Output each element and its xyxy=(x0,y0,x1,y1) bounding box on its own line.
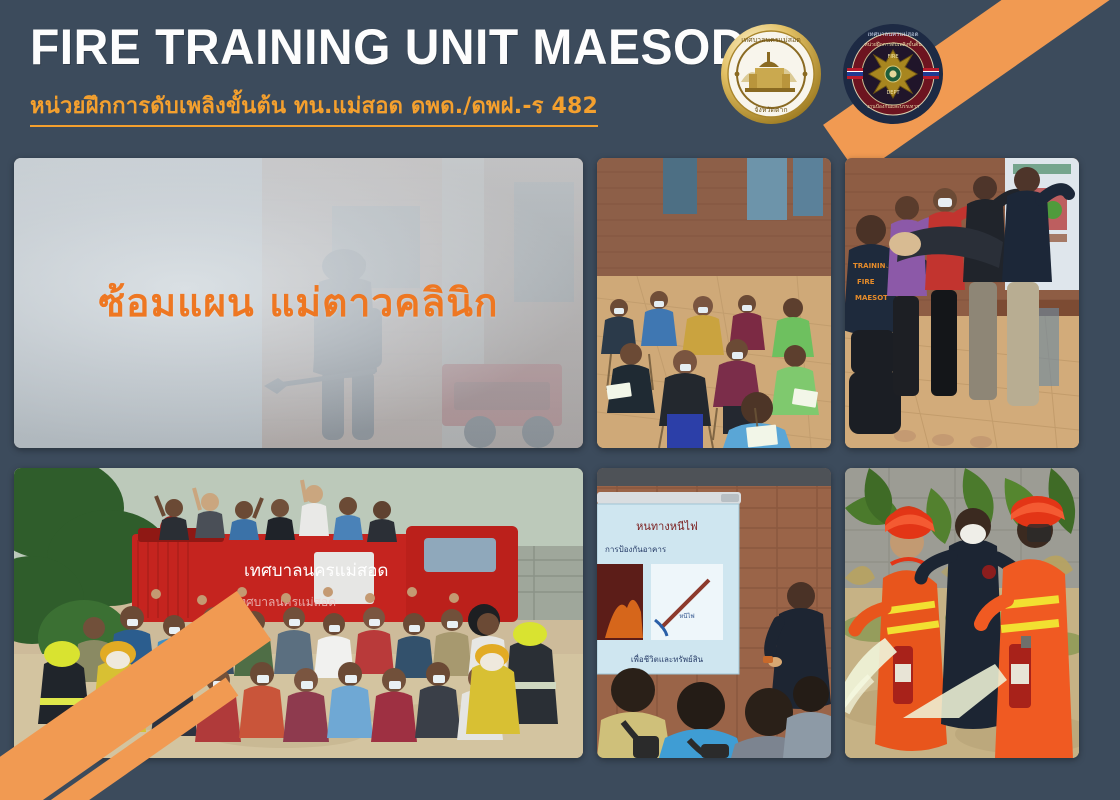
photo-caption: ซ้อมแผน แม่ตาวคลินิก xyxy=(14,272,583,334)
badge-center-bottom-text: DEPT xyxy=(886,90,900,96)
casualty-lift-practice-photo[interactable]: TRAINING FIRE MAESOT xyxy=(845,158,1079,448)
seal-bottom-text: จังหวัดตาก xyxy=(754,106,787,114)
badge-top-text: เทศบาลนครแม่สอด xyxy=(868,31,919,38)
fire-truck-text: เทศบาลนครแม่สอด xyxy=(244,561,388,581)
page-subtitle: หน่วยฝึกการดับเพลิงขั้นต้น ทน.แม่สอด ดพด… xyxy=(30,88,598,127)
photo-grid: ซ้อมแผน แม่ตาวคลินิก xyxy=(14,158,1106,758)
maesot-fire-department-badge: FIRE DEPT เทศบาลนครแม่สอด หน่วยฝึกการดับ… xyxy=(841,22,945,126)
fire-drill-smoke-photo[interactable]: ซ้อมแผน แม่ตาวคลินิก xyxy=(14,158,583,448)
poster-header: FIRE TRAINING UNIT MAESOD หน่วยฝึกการดับ… xyxy=(0,0,1120,150)
slide-line2: เพื่อชีวิตและทรัพย์สิน xyxy=(631,653,704,664)
logo-group: เทศบาลนครแม่สอด จังหวัดตาก xyxy=(719,22,945,126)
slide-title: หนทางหนีไฟ xyxy=(636,520,698,533)
extinguisher-practice-photo[interactable] xyxy=(845,468,1079,758)
badge-inner-bottom-text: งานป้องกันและบรรเทาฯ xyxy=(867,103,919,110)
projector-lecture-photo[interactable]: หนทางหนีไฟ การป้องกันอาคาร หนีไฟ เพื่อชี… xyxy=(597,468,831,758)
shirt-text-line3: MAESOT xyxy=(855,294,888,302)
poster-canvas: FIRE TRAINING UNIT MAESOD หน่วยฝึกการดับ… xyxy=(0,0,1120,800)
slide-line1: การป้องกันอาคาร xyxy=(605,545,667,554)
classroom-briefing-photo[interactable] xyxy=(597,158,831,448)
page-title: FIRE TRAINING UNIT MAESOD xyxy=(30,22,746,72)
badge-center-top-text: FIRE xyxy=(888,54,899,60)
svg-text:หนีไฟ: หนีไฟ xyxy=(679,612,694,620)
group-photo-fire-truck[interactable]: เทศบาลนครแม่สอด เทศบาลนครแม่สอด xyxy=(14,468,583,758)
maesot-municipality-seal: เทศบาลนครแม่สอด จังหวัดตาก xyxy=(719,22,823,126)
seal-top-text: เทศบาลนครแม่สอด xyxy=(741,36,801,44)
shirt-text-line2: FIRE xyxy=(857,278,875,286)
